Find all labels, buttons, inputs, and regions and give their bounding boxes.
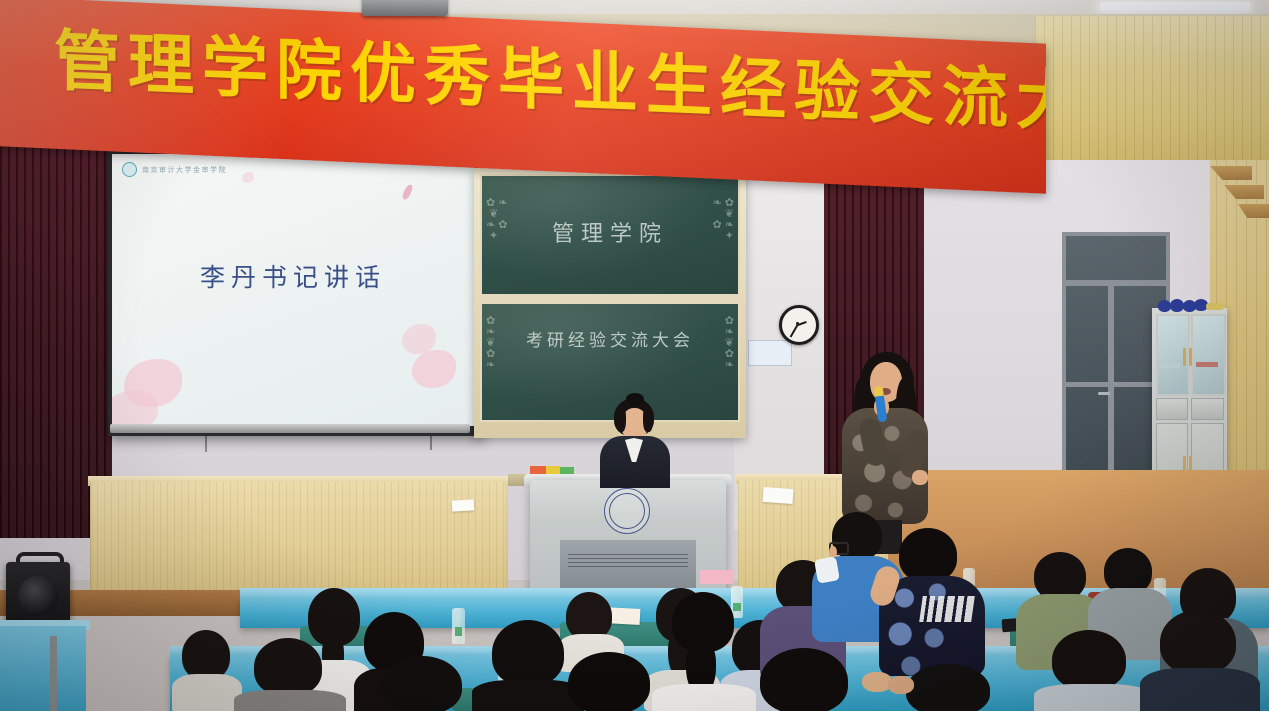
audience-shoulders [1140, 668, 1260, 711]
wall-notice-sign [748, 340, 792, 366]
audience-member [176, 630, 236, 711]
door-handle[interactable] [1098, 392, 1110, 395]
projection-screen-bottom-bar [110, 424, 470, 433]
university-seal-icon [122, 162, 137, 177]
grille-line [568, 558, 688, 559]
audience-hair [899, 528, 957, 582]
cabinet-handle[interactable] [1183, 348, 1186, 366]
audience-member [748, 648, 864, 711]
audience-member [1148, 610, 1252, 711]
paper-on-stage-panel [763, 487, 794, 504]
paper-on-stage-panel [452, 499, 475, 511]
door-mullion [1066, 382, 1166, 387]
audience-member [660, 592, 750, 711]
university-crest-emblem [604, 488, 650, 534]
audience-hair [254, 638, 322, 696]
left-desk-leg [50, 636, 57, 711]
stage-front-panel-left [90, 482, 508, 602]
decorative-petal [112, 390, 158, 426]
decorative-petal [242, 172, 254, 183]
decorative-petal [412, 350, 456, 388]
water-bottle[interactable] [452, 608, 465, 644]
podium-presenter [592, 398, 682, 488]
pink-notebook [700, 570, 734, 584]
stage-curtain-left [0, 108, 112, 538]
blackboard-upper-panel: ✿ ❧ ❦❧ ✿ ✦ ❧ ✿ ❦✿ ❧ ✦ 管理学院 [480, 174, 740, 296]
wood-wall-panel-right [1035, 16, 1269, 166]
door-mullion [1066, 280, 1166, 286]
grille-line [568, 562, 688, 563]
cabinet-shelf-contents [1160, 364, 1180, 368]
audience-hair [382, 656, 462, 711]
clock-minute-hand [790, 325, 798, 338]
audience-member [1042, 630, 1140, 711]
left-desk [0, 626, 86, 711]
lecture-hall-photo: 南京审计大学金审学院 李丹书记讲话 ✿ ❧ ❦❧ ✿ ✦ ❧ ✿ ❦✿ ❧ ✦ … [0, 0, 1269, 711]
audience-hair [1052, 630, 1126, 690]
cabinet-drawer-left[interactable] [1156, 398, 1188, 420]
audience-member [372, 656, 476, 711]
projection-screen: 南京审计大学金审学院 李丹书记讲话 [108, 140, 484, 436]
colored-folders [560, 467, 574, 474]
wall-clock [779, 305, 819, 345]
blue-item [1170, 299, 1184, 312]
audience-hair [492, 620, 564, 686]
presenter-hair-side [643, 406, 653, 432]
audience-member [244, 638, 336, 711]
cabinet-drawer-right[interactable] [1191, 398, 1224, 420]
shirt-logo-text [919, 596, 975, 622]
grille-line [568, 566, 688, 567]
audience-shoulders [652, 684, 756, 711]
colored-folders [530, 466, 546, 474]
blackboard-upper-text: 管理学院 [482, 216, 738, 248]
audience-hand [888, 676, 914, 694]
cabinet-glass-door-right[interactable] [1191, 314, 1226, 396]
audience-hair [182, 630, 230, 680]
colored-folders [546, 466, 560, 474]
audience-shoulders [172, 674, 242, 711]
blackboard-lower-text: 考研经验交流大会 [482, 326, 738, 351]
audience-hair [760, 648, 848, 711]
audience-member [556, 652, 666, 711]
audience-hair [1160, 610, 1236, 674]
cabinet-top-items [1158, 299, 1224, 313]
cabinet-handle[interactable] [1189, 348, 1192, 366]
audience-hair [906, 664, 990, 711]
audience-hair [568, 652, 650, 711]
yellow-item [1206, 303, 1224, 310]
slide-logo: 南京审计大学金审学院 [122, 162, 227, 177]
decorative-petal [401, 183, 413, 200]
presenter-hair-side [616, 406, 626, 432]
ceiling-projector [362, 0, 448, 16]
clock-center-pin [796, 322, 799, 325]
speaker-hand [912, 470, 928, 485]
pa-speaker-cone [18, 576, 58, 616]
projection-screen-surface: 南京审计大学金审学院 李丹书记讲话 [112, 154, 474, 426]
slide-logo-text: 南京审计大学金审学院 [142, 165, 227, 175]
clock-hour-hand [798, 321, 807, 326]
audience-shoulders [1034, 684, 1150, 711]
presenter-hair-bun [626, 393, 644, 405]
shirt-collar [814, 556, 840, 583]
ceiling-light-tube [1100, 2, 1250, 11]
cabinet-shelf-contents [1196, 362, 1218, 367]
grille-line [568, 554, 688, 555]
audience-hair [1034, 552, 1086, 600]
audience-member [885, 528, 981, 678]
slide-title: 李丹书记讲话 [112, 258, 474, 294]
audience-shoulders [234, 690, 346, 711]
